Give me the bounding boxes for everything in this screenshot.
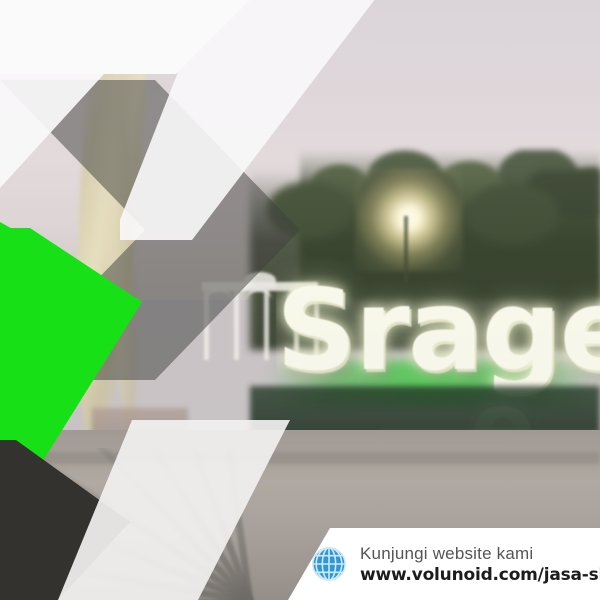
website-banner[interactable]: Kunjungi website kami www.volunoid.com/j… xyxy=(288,528,600,600)
website-banner-content: Kunjungi website kami www.volunoid.com/j… xyxy=(288,528,600,600)
subline-text-2: da xyxy=(0,352,146,374)
banner-label: Kunjungi website kami xyxy=(360,543,600,564)
gazebo-column xyxy=(234,290,239,360)
gazebo-column xyxy=(264,290,269,360)
gazebo-arch xyxy=(206,288,232,312)
website-banner-text: Kunjungi website kami www.volunoid.com/j… xyxy=(360,543,600,586)
big-word-text: SI xyxy=(0,238,104,311)
subline-text-1: ipsi xyxy=(0,324,146,346)
gazebo-column xyxy=(204,290,209,360)
headline-text: onal xyxy=(0,24,114,55)
poster-canvas: Srage e onal SI ipsi da xyxy=(0,0,600,600)
banner-url[interactable]: www.volunoid.com/jasa-skrip xyxy=(360,564,600,586)
